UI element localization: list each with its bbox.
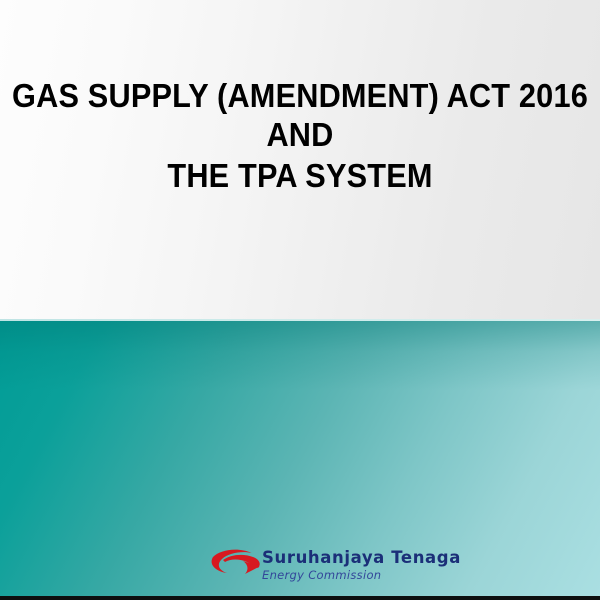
panel-divider bbox=[0, 319, 600, 321]
swoosh-arrow-icon bbox=[210, 549, 264, 579]
title-line-1: GAS SUPPLY (AMENDMENT) ACT 2016 bbox=[0, 78, 600, 114]
slide-title-block: GAS SUPPLY (AMENDMENT) ACT 2016 AND THE … bbox=[0, 78, 600, 197]
teal-panel-top-shading bbox=[0, 320, 600, 390]
bottom-letterbox-strip bbox=[0, 596, 600, 600]
logo-organization-name: Suruhanjaya Tenaga bbox=[262, 548, 461, 568]
logo-tagline: Energy Commission bbox=[262, 568, 461, 582]
logo-text-group: Suruhanjaya Tenaga Energy Commission bbox=[262, 548, 461, 582]
title-line-3: THE TPA SYSTEM bbox=[0, 155, 600, 197]
title-slide: GAS SUPPLY (AMENDMENT) ACT 2016 AND THE … bbox=[0, 0, 600, 600]
organization-logo: Suruhanjaya Tenaga Energy Commission bbox=[210, 548, 432, 586]
title-line-2: AND bbox=[0, 114, 600, 155]
